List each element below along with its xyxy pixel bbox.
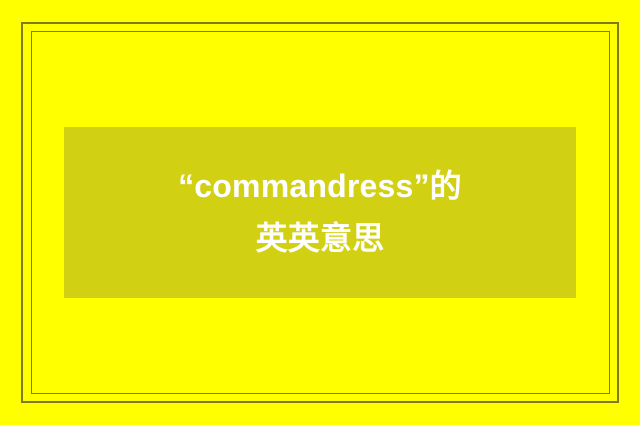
page-title: “commandress”的英英意思 (170, 161, 470, 265)
title-panel: “commandress”的英英意思 (64, 127, 576, 298)
title-card-canvas: “commandress”的英英意思 (0, 0, 640, 425)
